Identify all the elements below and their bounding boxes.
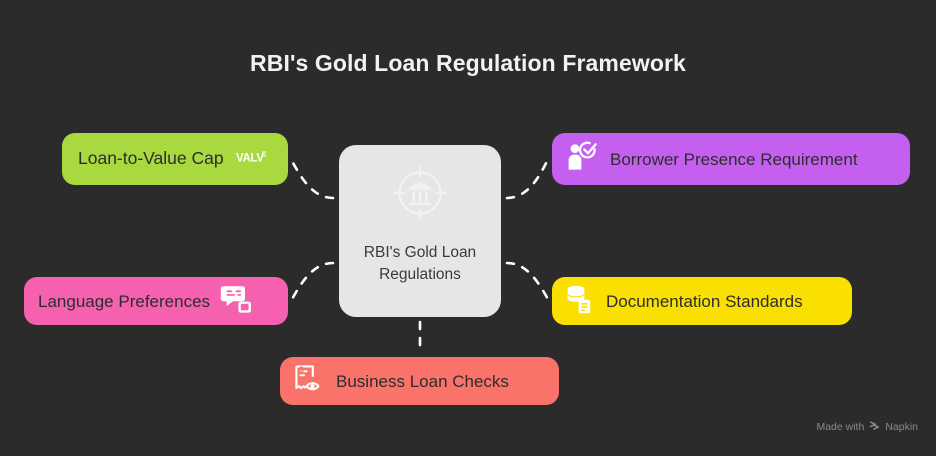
database-document-icon xyxy=(564,283,596,320)
connector-hub-to-language-preferences xyxy=(291,263,333,301)
node-language-preferences[interactable]: Language Preferences xyxy=(24,277,288,325)
connector-hub-to-documentation-standards xyxy=(507,263,549,301)
node-business-loan-checks[interactable]: $ Business Loan Checks xyxy=(280,357,559,405)
svg-text:E: E xyxy=(261,149,266,158)
watermark: Made with Napkin xyxy=(816,420,918,434)
node-borrower-presence-requirement-label: Borrower Presence Requirement xyxy=(610,151,858,168)
node-documentation-standards-label: Documentation Standards xyxy=(606,293,803,310)
connector-hub-to-borrower-presence-requirement xyxy=(507,159,548,198)
hub-node-label: RBI's Gold Loan Regulations xyxy=(354,242,486,286)
person-check-icon xyxy=(564,140,598,179)
node-loan-to-value-cap[interactable]: Loan-to-Value Cap VALV E xyxy=(62,133,288,185)
hub-node[interactable]: RBI's Gold Loan Regulations xyxy=(339,145,501,317)
invoice-eye-icon: $ xyxy=(293,363,325,400)
node-loan-to-value-cap-label: Loan-to-Value Cap xyxy=(78,150,224,168)
node-language-preferences-label: Language Preferences xyxy=(38,293,210,310)
valve-text-icon: VALV E xyxy=(236,146,270,173)
page-title: RBI's Gold Loan Regulation Framework xyxy=(0,50,936,77)
diagram-canvas: RBI's Gold Loan Regulation Framework xyxy=(0,0,936,456)
bank-target-icon xyxy=(392,165,448,226)
napkin-logo-icon xyxy=(869,420,880,434)
watermark-brand: Napkin xyxy=(885,422,918,433)
svg-text:VALV: VALV xyxy=(236,152,264,164)
node-documentation-standards[interactable]: Documentation Standards xyxy=(552,277,852,325)
connector-hub-to-loan-to-value-cap xyxy=(291,159,333,198)
node-business-loan-checks-label: Business Loan Checks xyxy=(336,373,509,390)
svg-text:$: $ xyxy=(299,365,304,374)
chat-bubbles-icon xyxy=(220,283,252,320)
node-borrower-presence-requirement[interactable]: Borrower Presence Requirement xyxy=(552,133,910,185)
watermark-prefix: Made with xyxy=(816,422,864,433)
